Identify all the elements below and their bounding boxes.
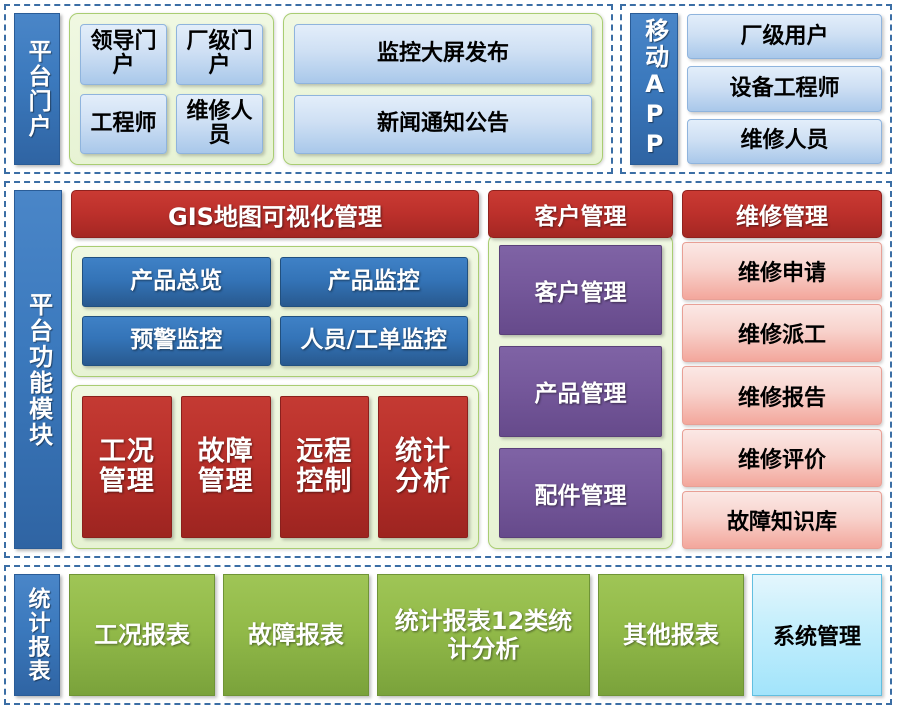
architecture-diagram: 平台门户 领导门户 厂级门户 工程师 维修人员 监控大屏发布 新闻通知公告 移动…	[0, 0, 897, 709]
mobile-button-maintenance-staff[interactable]: 维修人员	[687, 119, 882, 164]
portal-button-leader[interactable]: 领导门户	[80, 24, 167, 85]
header-gis-map[interactable]: GIS地图可视化管理	[71, 190, 479, 238]
repair-item-application[interactable]: 维修申请	[682, 242, 882, 300]
rail-statistical-reports-label: 统计报表	[25, 587, 48, 683]
function-tile-condition-management[interactable]: 工况 管理	[82, 396, 172, 538]
repair-items-list: 维修申请 维修派工 维修报告 维修评价 故障知识库	[682, 238, 882, 549]
gis-monitor-row-2: 预警监控 人员/工单监控	[82, 316, 468, 366]
band-statistical-reports: 统计报表 工况报表 故障报表 统计报表12类统计分析 其他报表 系统管理	[4, 565, 892, 705]
customer-tile-customer-management[interactable]: 客户管理	[499, 245, 662, 335]
repair-item-evaluation[interactable]: 维修评价	[682, 429, 882, 487]
report-tile-other-report[interactable]: 其他报表	[598, 574, 744, 696]
customer-tile-parts-management[interactable]: 配件管理	[499, 448, 662, 538]
portal-button-bigscreen-publish[interactable]: 监控大屏发布	[294, 24, 592, 84]
column-customer: 客户管理 客户管理 产品管理 配件管理	[488, 190, 673, 549]
reports-items: 工况报表 故障报表 统计报表12类统计分析 其他报表 系统管理	[69, 574, 882, 696]
gis-tile-staff-workorder-monitor[interactable]: 人员/工单监控	[280, 316, 469, 366]
mobile-button-equipment-engineer[interactable]: 设备工程师	[687, 66, 882, 111]
rail-mobile-app-label: 移动APP	[641, 18, 666, 160]
top-band-row: 平台门户 领导门户 厂级门户 工程师 维修人员 监控大屏发布 新闻通知公告 移动…	[4, 4, 892, 174]
portal-users-row-1: 领导门户 厂级门户	[80, 24, 263, 85]
function-tile-statistical-analysis[interactable]: 统计 分析	[378, 396, 468, 538]
portal-button-news-notice[interactable]: 新闻通知公告	[294, 95, 592, 155]
portal-button-engineer[interactable]: 工程师	[80, 94, 167, 155]
band-platform-portal: 平台门户 领导门户 厂级门户 工程师 维修人员 监控大屏发布 新闻通知公告	[4, 4, 613, 174]
portal-users-row-2: 工程师 维修人员	[80, 94, 263, 155]
modules-columns: GIS地图可视化管理 产品总览 产品监控 预警监控 人员/工单监控 工况 管理 …	[71, 190, 882, 549]
gis-function-container: 工况 管理 故障 管理 远程 控制 统计 分析	[71, 385, 479, 549]
rail-platform-modules-label: 平台功能模块	[25, 292, 50, 448]
gis-tile-product-overview[interactable]: 产品总览	[82, 257, 271, 307]
band-platform-modules: 平台功能模块 GIS地图可视化管理 产品总览 产品监控 预警监控 人员/工单监控	[4, 181, 892, 558]
rail-mobile-app: 移动APP	[630, 13, 678, 165]
repair-item-dispatch[interactable]: 维修派工	[682, 304, 882, 362]
function-tile-remote-control[interactable]: 远程 控制	[280, 396, 370, 538]
mobile-app-items: 厂级用户 设备工程师 维修人员	[687, 13, 882, 165]
repair-item-fault-knowledge-base[interactable]: 故障知识库	[682, 491, 882, 549]
mobile-button-factory-user[interactable]: 厂级用户	[687, 14, 882, 59]
gis-tile-alarm-monitor[interactable]: 预警监控	[82, 316, 271, 366]
repair-item-report[interactable]: 维修报告	[682, 366, 882, 424]
column-gis: GIS地图可视化管理 产品总览 产品监控 预警监控 人员/工单监控 工况 管理 …	[71, 190, 479, 549]
report-tile-fault-report[interactable]: 故障报表	[223, 574, 369, 696]
rail-statistical-reports: 统计报表	[14, 574, 60, 696]
rail-platform-modules: 平台功能模块	[14, 190, 62, 549]
portal-button-factory[interactable]: 厂级门户	[176, 24, 263, 85]
customer-items-container: 客户管理 产品管理 配件管理	[488, 234, 673, 549]
gis-tile-product-monitor[interactable]: 产品监控	[280, 257, 469, 307]
customer-tile-product-management[interactable]: 产品管理	[499, 346, 662, 436]
rail-platform-portal: 平台门户	[14, 13, 60, 165]
function-tile-fault-management[interactable]: 故障 管理	[181, 396, 271, 538]
portal-button-maintenance-staff[interactable]: 维修人员	[176, 94, 263, 155]
header-repair-management[interactable]: 维修管理	[682, 190, 882, 238]
gis-monitor-container: 产品总览 产品监控 预警监控 人员/工单监控	[71, 246, 479, 377]
gis-function-row: 工况 管理 故障 管理 远程 控制 统计 分析	[82, 396, 468, 538]
portal-users-container: 领导门户 厂级门户 工程师 维修人员	[69, 13, 274, 165]
rail-platform-portal-label: 平台门户	[25, 39, 49, 139]
report-tile-12-category-analysis[interactable]: 统计报表12类统计分析	[377, 574, 590, 696]
gis-monitor-row-1: 产品总览 产品监控	[82, 257, 468, 307]
portal-publish-container: 监控大屏发布 新闻通知公告	[283, 13, 603, 165]
band-mobile-app: 移动APP 厂级用户 设备工程师 维修人员	[620, 4, 892, 174]
column-repair: 维修管理 维修申请 维修派工 维修报告 维修评价 故障知识库	[682, 190, 882, 549]
report-tile-condition-report[interactable]: 工况报表	[69, 574, 215, 696]
system-management-tile[interactable]: 系统管理	[752, 574, 882, 696]
header-customer-management[interactable]: 客户管理	[488, 190, 673, 238]
